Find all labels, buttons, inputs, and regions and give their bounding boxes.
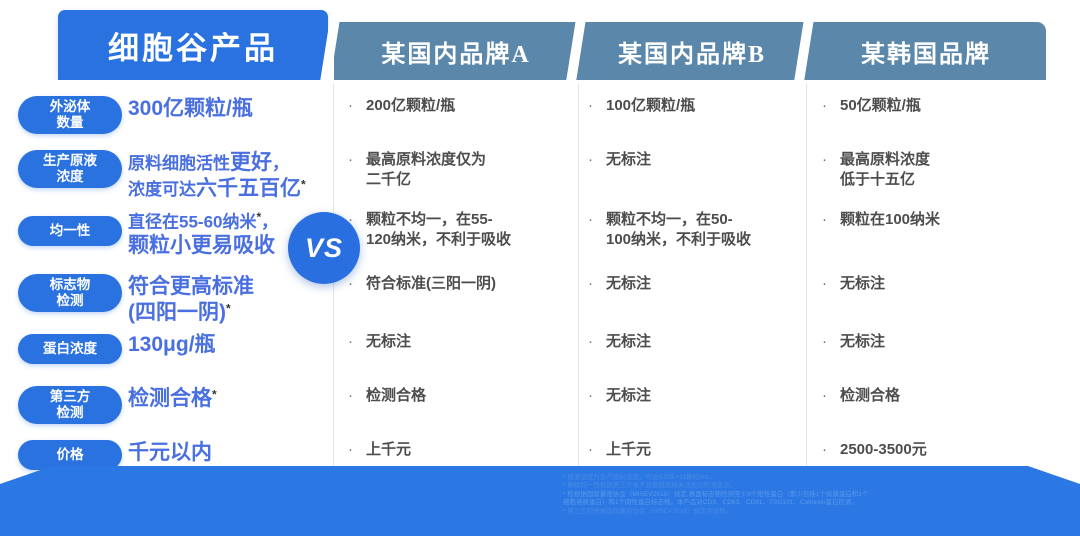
column-divider-2 (578, 84, 579, 472)
competitor-cell: ·50亿颗粒/瓶 (818, 96, 921, 116)
row-label-pill: 均一性 (18, 216, 122, 246)
competitor-cell-text: 符合标准(三阳一阴) (366, 274, 496, 294)
bullet-icon: · (584, 332, 606, 352)
header-competitor-a: 某国内品牌A (334, 22, 578, 80)
bullet-icon: · (344, 440, 366, 460)
competitor-cell-text: 上千元 (366, 440, 411, 460)
competitor-cell: ·无标注 (584, 332, 651, 352)
competitor-cell-text: 无标注 (606, 332, 651, 352)
competitor-cell: ·无标注 (584, 386, 651, 406)
row-label-pill: 第三方检测 (18, 386, 122, 424)
header-main-brand: 细胞谷产品 (58, 10, 328, 80)
footer-band (0, 466, 1080, 536)
row-label-pill: 标志物检测 (18, 274, 122, 312)
main-value-cell: 符合更高标准(四阳一阴)* (128, 274, 254, 327)
bullet-icon: · (818, 96, 840, 116)
competitor-cell: ·最高原料浓度仅为二千亿 (344, 150, 486, 191)
main-value-cell: 直径在55-60纳米*，颗粒小更易吸收 (128, 210, 278, 259)
competitor-cell-text: 颗粒不均一，在55-120纳米，不利于吸收 (366, 210, 511, 251)
competitor-cell: ·无标注 (818, 332, 885, 352)
bullet-icon: · (344, 150, 366, 170)
competitor-cell-text: 上千元 (606, 440, 651, 460)
bullet-icon: · (344, 274, 366, 294)
footnote-list: * 原液浓度为生产原料浓度，可达6.50E+11颗粒/mL。* 颗粒均一性根据第… (563, 474, 863, 516)
bullet-icon: · (818, 440, 840, 460)
competitor-cell-text: 无标注 (606, 150, 651, 170)
competitor-cell-text: 无标注 (366, 332, 411, 352)
header-competitor-k: 某韩国品牌 (806, 22, 1046, 80)
bullet-icon: · (818, 274, 840, 294)
competitor-cell-text: 100亿颗粒/瓶 (606, 96, 695, 116)
bullet-icon: · (344, 332, 366, 352)
competitor-cell-text: 无标注 (840, 332, 885, 352)
bullet-icon: · (584, 386, 606, 406)
bullet-icon: · (818, 150, 840, 170)
competitor-cell: ·符合标准(三阳一阴) (344, 274, 496, 294)
competitor-cell: ·无标注 (344, 332, 411, 352)
vs-badge: VS (288, 212, 360, 284)
bullet-icon: · (344, 96, 366, 116)
vs-badge-label: VS (305, 233, 343, 264)
main-value-cell: 千元以内 (128, 440, 212, 466)
row-label-pill: 蛋白浓度 (18, 334, 122, 364)
row-label-pill: 外泌体数量 (18, 96, 122, 134)
competitor-cell: ·无标注 (584, 274, 651, 294)
competitor-cell: ·2500-3500元 (818, 440, 927, 460)
competitor-cell-text: 无标注 (606, 386, 651, 406)
competitor-cell: ·无标注 (818, 274, 885, 294)
header-competitor-b-label: 某国内品牌B (618, 34, 766, 69)
bullet-icon: · (818, 386, 840, 406)
bullet-icon: · (584, 96, 606, 116)
bullet-icon: · (818, 210, 840, 230)
comparison-infographic: 细胞谷产品 某国内品牌A 某国内品牌B 某韩国品牌 外泌体数量生产原液浓度均一性… (0, 0, 1080, 536)
bullet-icon: · (818, 332, 840, 352)
competitor-cell-text: 50亿颗粒/瓶 (840, 96, 921, 116)
competitor-cell-text: 最高原料浓度低于十五亿 (840, 150, 930, 191)
competitor-cell: ·颗粒在100纳米 (818, 210, 940, 230)
footnote-line: 细胞溶质蛋白）和1个阴性蛋白标志物。本产品对CD9、CD63、CD81、TSG1… (563, 499, 863, 507)
header-main-title: 细胞谷产品 (108, 23, 278, 68)
footnote-line: * 颗粒均一性根据第三方电子显微镜及纳米流式仪检测显示。 (563, 482, 863, 490)
competitor-cell: ·颗粒不均一，在55-120纳米，不利于吸收 (344, 210, 511, 251)
competitor-cell-text: 检测合格 (366, 386, 426, 406)
row-label-pill: 价格 (18, 440, 122, 470)
competitor-cell: ·检测合格 (344, 386, 426, 406)
header-competitor-k-label: 某韩国品牌 (861, 34, 991, 69)
bullet-icon: · (584, 440, 606, 460)
header-competitor-b: 某国内品牌B (578, 22, 806, 80)
bullet-icon: · (584, 150, 606, 170)
competitor-cell: ·上千元 (344, 440, 411, 460)
main-value-cell: 检测合格* (128, 386, 217, 412)
competitor-cell-text: 颗粒在100纳米 (840, 210, 940, 230)
competitor-cell: ·无标注 (584, 150, 651, 170)
main-value-cell: 130μg/瓶 (128, 332, 216, 358)
competitor-cell: ·100亿颗粒/瓶 (584, 96, 695, 116)
competitor-cell: ·颗粒不均一，在50-100纳米，不利于吸收 (584, 210, 751, 251)
competitor-cell-text: 最高原料浓度仅为二千亿 (366, 150, 486, 191)
bullet-icon: · (584, 210, 606, 230)
bullet-icon: · (344, 386, 366, 406)
bullet-icon: · (584, 274, 606, 294)
column-divider-3 (806, 84, 807, 472)
competitor-cell-text: 无标注 (606, 274, 651, 294)
competitor-cell: ·200亿颗粒/瓶 (344, 96, 455, 116)
header-competitor-a-label: 某国内品牌A (381, 34, 530, 69)
footnote-line: * 第三方检根据国际囊泡协会（MISEV2018）规定测送检。 (563, 508, 863, 516)
row-label-pill: 生产原液浓度 (18, 150, 122, 188)
competitor-cell-text: 颗粒不均一，在50-100纳米，不利于吸收 (606, 210, 751, 251)
competitor-cell-text: 2500-3500元 (840, 440, 927, 460)
competitor-cell: ·检测合格 (818, 386, 900, 406)
competitor-cell: ·最高原料浓度低于十五亿 (818, 150, 930, 191)
competitor-cell-text: 无标注 (840, 274, 885, 294)
competitor-cell-text: 检测合格 (840, 386, 900, 406)
main-value-cell: 原料细胞活性更好，浓度可达六千五百亿* (128, 150, 306, 203)
competitor-cell: ·上千元 (584, 440, 651, 460)
main-value-cell: 300亿颗粒/瓶 (128, 96, 253, 122)
competitor-cell-text: 200亿颗粒/瓶 (366, 96, 455, 116)
